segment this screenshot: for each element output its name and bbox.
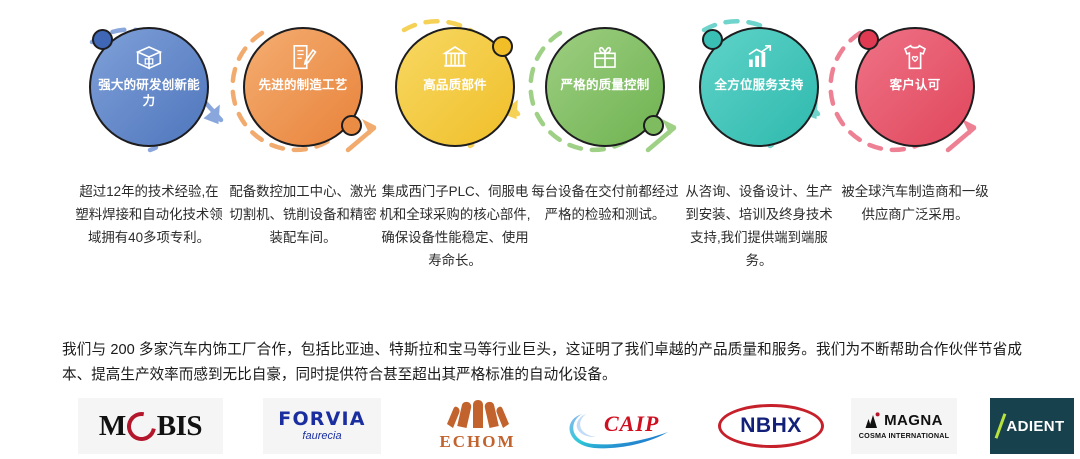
- logo-caip-text: CAIP: [604, 411, 659, 437]
- rim-dot: [492, 36, 513, 57]
- logo-echom: ECHOM: [425, 398, 530, 454]
- logo-echom-text: ECHOM: [439, 432, 515, 452]
- rim-dot: [643, 115, 664, 136]
- partner-logos: MBIS FORVIA faurecia ECHOM: [0, 398, 1080, 456]
- magna-wordmark: MAGNA: [865, 412, 943, 429]
- bank-building-icon: [440, 42, 470, 72]
- logo-magna-text: MAGNA: [884, 412, 943, 429]
- logo-magna: MAGNA COSMA INTERNATIONAL: [851, 398, 957, 454]
- pencil-document-icon: [288, 42, 318, 72]
- step-rd-innovation[interactable]: 强大的研发创新能力 超过12年的技术经验,在塑料焊接和自动化技术领域拥有40多项…: [72, 0, 226, 320]
- rim-dot: [92, 29, 113, 50]
- mobis-circle-mark: [121, 406, 161, 446]
- steps-row: 强大的研发创新能力 超过12年的技术经验,在塑料焊接和自动化技术领域拥有40多项…: [0, 0, 1080, 320]
- bubble-wrap: 严格的质量控制: [528, 0, 682, 175]
- step-advanced-manufacturing[interactable]: 先进的制造工艺 配备数控加工中心、激光切割机、铣削设备和精密装配车间。: [226, 0, 380, 320]
- bubble-wrap: 全方位服务支持: [682, 0, 836, 175]
- gift-box-icon: [590, 42, 620, 72]
- step-label: 严格的质量控制: [553, 77, 657, 93]
- tshirt-heart-icon: [900, 42, 930, 72]
- logo-caip: CAIP: [560, 398, 700, 454]
- step-strict-quality-control[interactable]: 严格的质量控制 每台设备在交付前都经过严格的检验和测试。: [528, 0, 682, 320]
- logo-mobis-text: MBIS: [99, 410, 202, 443]
- step-label: 强大的研发创新能力: [97, 77, 201, 109]
- logo-forvia-text: FORVIA: [278, 409, 365, 429]
- magna-mountain-icon: [865, 412, 882, 429]
- logo-adient: ADIENT: [990, 398, 1074, 454]
- logo-nbhx: NBHX: [718, 398, 824, 454]
- step-description: 从咨询、设备设计、生产到安装、培训及终身技术支持,我们提供端到端服务。: [683, 180, 835, 272]
- logo-adient-text: ADIENT: [1006, 418, 1064, 435]
- step-label: 客户认可: [863, 77, 967, 93]
- step-description: 配备数控加工中心、激光切割机、铣削设备和精密装配车间。: [227, 180, 379, 249]
- step-label: 高品质部件: [403, 77, 507, 93]
- step-label: 先进的制造工艺: [251, 77, 355, 93]
- bubble-wrap: 强大的研发创新能力: [72, 0, 226, 175]
- step-description: 每台设备在交付前都经过严格的检验和测试。: [529, 180, 681, 226]
- logo-nbhx-text: NBHX: [740, 414, 802, 438]
- infographic-stage: 强大的研发创新能力 超过12年的技术经验,在塑料焊接和自动化技术领域拥有40多项…: [0, 0, 1080, 459]
- logo-magna-sub: COSMA INTERNATIONAL: [859, 431, 949, 440]
- step-description: 超过12年的技术经验,在塑料焊接和自动化技术领域拥有40多项专利。: [73, 180, 225, 249]
- nbhx-oval: NBHX: [718, 404, 824, 448]
- shell-icon: [447, 400, 509, 430]
- step-high-quality-components[interactable]: 高品质部件 集成西门子PLC、伺服电机和全球采购的核心部件,确保设备性能稳定、使…: [378, 0, 532, 320]
- step-customer-recognition[interactable]: 客户认可 被全球汽车制造商和一级供应商广泛采用。: [838, 0, 992, 320]
- open-box-icon: [134, 42, 164, 72]
- step-description: 集成西门子PLC、伺服电机和全球采购的核心部件,确保设备性能稳定、使用寿命长。: [379, 180, 531, 272]
- step-label: 全方位服务支持: [707, 77, 811, 93]
- bar-chart-growth-icon: [744, 42, 774, 72]
- bubble-wrap: 客户认可: [838, 0, 992, 175]
- summary-paragraph: 我们与 200 多家汽车内饰工厂合作，包括比亚迪、特斯拉和宝马等行业巨头，这证明…: [62, 338, 1022, 388]
- rim-dot: [702, 29, 723, 50]
- bubble-wrap: 先进的制造工艺: [226, 0, 380, 175]
- logo-forvia: FORVIA faurecia: [263, 398, 381, 454]
- bubble-wrap: 高品质部件: [378, 0, 532, 175]
- rim-dot: [858, 29, 879, 50]
- adient-slash-icon: [995, 413, 1007, 438]
- step-full-service-support[interactable]: 全方位服务支持 从咨询、设备设计、生产到安装、培训及终身技术支持,我们提供端到端…: [682, 0, 836, 320]
- rim-dot: [341, 115, 362, 136]
- step-description: 被全球汽车制造商和一级供应商广泛采用。: [839, 180, 991, 226]
- logo-forvia-sub: faurecia: [302, 430, 341, 443]
- logo-mobis: MBIS: [78, 398, 223, 454]
